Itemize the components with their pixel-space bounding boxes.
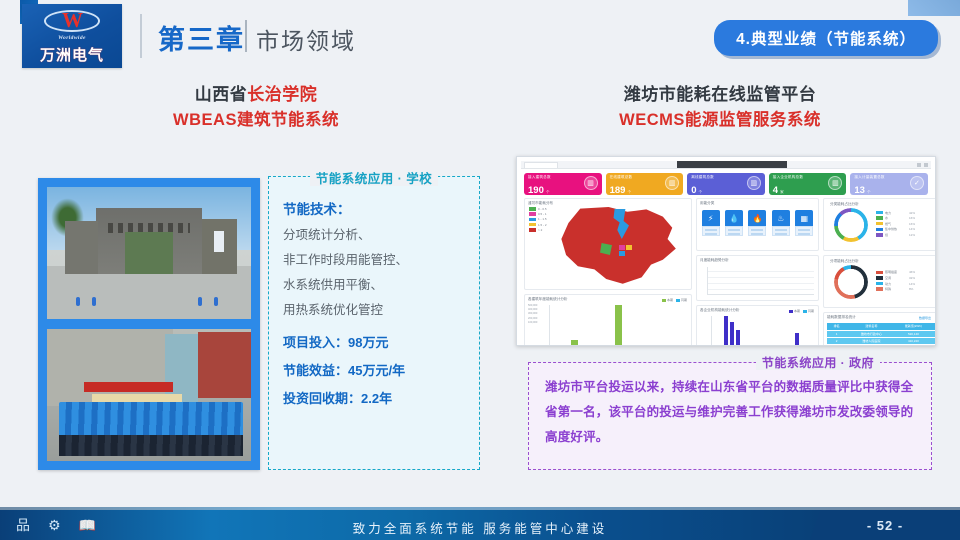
left-column-title: 山西省长治学院 WBEAS建筑节能系统 bbox=[30, 84, 482, 132]
donut-1-title: 分类能耗占比分析 bbox=[827, 200, 859, 207]
table-cell: 14% bbox=[930, 337, 936, 344]
kpi-unit: 个 bbox=[698, 190, 702, 194]
gridline bbox=[708, 277, 814, 278]
table-action-export[interactable]: 数据导出 bbox=[919, 316, 931, 320]
legend-item: 电力42% bbox=[876, 211, 915, 215]
legend-swatch bbox=[876, 287, 883, 291]
electric-icon: ⚡ bbox=[702, 210, 720, 226]
energy-icon-heat[interactable]: ♨ bbox=[772, 210, 790, 236]
legend-swatch bbox=[676, 299, 680, 302]
right-title-line2: WECMS能源监管服务系统 bbox=[490, 108, 950, 132]
legend-label: 燃气 bbox=[885, 222, 907, 226]
ranking-table-card[interactable]: 能耗数据排名统计 数据导出 按月查询 排名建筑名称能耗值(kWh)占比1潍坊市行… bbox=[823, 312, 936, 346]
table-header: 排名建筑名称能耗值(kWh)占比 bbox=[827, 323, 936, 330]
legend-item: 集中供热14% bbox=[876, 227, 915, 231]
header-divider-2 bbox=[245, 20, 247, 52]
water-drop-icon: 💧 bbox=[725, 210, 743, 226]
legend-value: 16% bbox=[909, 216, 915, 220]
bar bbox=[571, 340, 578, 346]
gridline bbox=[708, 289, 814, 290]
legend-swatch bbox=[529, 218, 536, 222]
donut-1-legend: 电力42% 水16% 燃气16% 集中供热14% 煤12% bbox=[876, 211, 915, 239]
photo2-glass-facade bbox=[165, 334, 198, 403]
map-card[interactable]: 潍坊市能耗分布 0 - 0.5 0.5 - 1 1 - 1.5 1.5 - 2 … bbox=[524, 198, 692, 290]
bar bbox=[615, 305, 622, 346]
legend-item: 照明插座46% bbox=[876, 270, 915, 274]
table-header-row: 能耗数据排名统计 数据导出 按月查询 bbox=[824, 313, 936, 320]
table-cell: 潍坊市行政中心 bbox=[846, 330, 896, 337]
legend-value: 42% bbox=[909, 211, 915, 215]
map-legend-item: 1 - 1.5 bbox=[529, 217, 547, 221]
kpi-unit: 个 bbox=[627, 190, 631, 194]
photo1-bollard bbox=[92, 297, 96, 306]
legend-label: 空调 bbox=[885, 276, 907, 280]
legend-entry: 同期 bbox=[803, 309, 814, 313]
table-action-query[interactable]: 按月查询 bbox=[935, 316, 936, 320]
legend-label: 1 - 1.5 bbox=[538, 217, 547, 221]
energy-icon-electric[interactable]: ⚡ bbox=[702, 210, 720, 236]
map-legend: 0 - 0.5 0.5 - 1 1 - 1.5 1.5 - 2 > 2 bbox=[529, 207, 547, 233]
legend-item: 煤12% bbox=[876, 233, 915, 237]
legend-swatch bbox=[876, 276, 883, 280]
logo-company-name: 万洲电气 bbox=[40, 44, 104, 65]
bar-chart-1-legend: 本期 同期 bbox=[662, 298, 687, 302]
logo-emblem-icon: W bbox=[44, 8, 100, 34]
right-info-box: 潍坊市平台投运以来，持续在山东省平台的数据质量评比中获得全省第一名，该平台的投运… bbox=[528, 362, 932, 470]
legend-label: 0.5 - 1 bbox=[538, 212, 547, 216]
bar-chart-icon: ▥ bbox=[584, 176, 598, 190]
bar-chart-1-yaxis: 500,000 400,000 300,000 200,000 100,000 bbox=[528, 304, 537, 325]
axis-tick: 100,000 bbox=[528, 321, 537, 325]
donut-2-legend: 照明插座46% 空调32% 动力14% 特殊8% bbox=[876, 270, 915, 292]
dashboard-window-buttons[interactable] bbox=[917, 163, 928, 167]
kpi-value: 4 bbox=[773, 185, 778, 196]
slide-footer: 品 ⚙ 📖 致力全面系统节能 服务能管中心建设 - 52 - bbox=[0, 510, 960, 540]
energy-icon-gas[interactable]: 🔥 bbox=[748, 210, 766, 236]
energy-type-icons: ⚡ 💧 🔥 ♨ ▦ bbox=[697, 206, 818, 236]
photo1-pylon-left bbox=[65, 221, 98, 274]
header-divider bbox=[140, 14, 142, 58]
legend-value: 8% bbox=[909, 287, 913, 291]
left-photo-frame bbox=[38, 178, 260, 470]
legend-swatch bbox=[876, 282, 883, 286]
metric-investment: 项目投入：98万元 bbox=[283, 329, 479, 357]
right-title-line1: 潍坊市能耗在线监管平台 bbox=[490, 84, 950, 106]
kpi-unit: 家 bbox=[780, 190, 784, 194]
legend-label: 1.5 - 2 bbox=[538, 223, 547, 227]
photo1-gate-opening bbox=[125, 232, 174, 274]
legend-swatch bbox=[876, 228, 883, 232]
slide-header: W Worldwide 万洲电气 第三章 市场领域 4.典型业绩（节能系统） bbox=[0, 0, 960, 72]
legend-value: 14% bbox=[909, 282, 915, 286]
kpi-card[interactable]: 在线建筑总数 189个 ▥ bbox=[606, 173, 684, 195]
legend-swatch bbox=[529, 207, 536, 211]
check-icon: ✓ bbox=[910, 176, 924, 190]
chapter-title: 第三章 bbox=[158, 18, 245, 57]
line-chart-plot bbox=[707, 267, 814, 295]
bar-chart-icon: ▥ bbox=[828, 176, 842, 190]
legend-entry: 本期 bbox=[662, 298, 673, 302]
tech-item: 分项统计分析、 bbox=[283, 223, 479, 248]
ranking-table[interactable]: 排名建筑名称能耗值(kWh)占比1潍坊市行政中心520,14018%2潍坊人民医… bbox=[827, 323, 936, 346]
icon-base bbox=[702, 226, 720, 236]
legend-value: 46% bbox=[909, 270, 915, 274]
legend-label: 同期 bbox=[808, 309, 814, 313]
donut-2-title: 分项能耗占比分析 bbox=[827, 257, 859, 264]
photo2-red-banner bbox=[84, 382, 174, 393]
legend-label: 本期 bbox=[794, 309, 800, 313]
bar-chart-icon: ▥ bbox=[747, 176, 761, 190]
photo2-red-building bbox=[198, 332, 251, 398]
table-column-header: 排名 bbox=[827, 323, 846, 330]
right-info-paragraph: 潍坊市平台投运以来，持续在山东省平台的数据质量评比中获得全省第一名，该平台的投运… bbox=[529, 363, 931, 450]
table-cell: 潍坊市第一中学 bbox=[846, 344, 896, 346]
legend-swatch bbox=[876, 211, 883, 215]
bar-chart-1-card[interactable]: 各建筑年度能耗统计分析 本期 同期 500,000 400,000 300,00… bbox=[524, 294, 692, 346]
gas-flame-icon: 🔥 bbox=[748, 210, 766, 226]
dashboard-column-middle: 用能分类 ⚡ 💧 🔥 ♨ ▦ 月度能耗趋势分析 bbox=[696, 198, 819, 346]
map-region-chip[interactable] bbox=[619, 251, 625, 256]
table-row[interactable]: 1潍坊市行政中心520,14018% bbox=[827, 330, 936, 337]
kpi-value: 189 bbox=[610, 185, 626, 196]
legend-label: 水 bbox=[885, 216, 907, 220]
table-cell: 368,900 bbox=[897, 344, 931, 346]
legend-label: 电力 bbox=[885, 211, 907, 215]
coal-icon: ▦ bbox=[795, 210, 813, 226]
left-title-highlight: 长治学院 bbox=[247, 85, 317, 104]
dashboard-browser-bar bbox=[521, 161, 931, 169]
photo2-students-dark bbox=[59, 435, 243, 456]
legend-swatch bbox=[876, 271, 883, 275]
tech-item: 非工作时段用能管控、 bbox=[283, 248, 479, 273]
left-title-line1: 山西省长治学院 bbox=[30, 84, 482, 106]
map-region-chip[interactable] bbox=[619, 245, 625, 250]
kpi-value: 190 bbox=[528, 185, 544, 196]
bar bbox=[633, 345, 640, 346]
legend-label: 动力 bbox=[885, 282, 907, 286]
legend-swatch bbox=[529, 228, 536, 232]
bar-chart-2-plot bbox=[711, 316, 815, 346]
legend-swatch bbox=[803, 310, 807, 313]
photo1-bollard bbox=[76, 297, 80, 306]
table-cell: 3 bbox=[827, 344, 846, 346]
table-row[interactable]: 2潍坊人民医院410,22014% bbox=[827, 337, 936, 344]
legend-swatch bbox=[876, 222, 883, 226]
legend-entry: 同期 bbox=[676, 298, 687, 302]
energy-icon-coal[interactable]: ▦ bbox=[795, 210, 813, 236]
legend-value: 14% bbox=[909, 227, 915, 231]
dashboard-tab[interactable] bbox=[524, 162, 558, 168]
legend-swatch bbox=[789, 310, 793, 313]
legend-entry: 本期 bbox=[789, 309, 800, 313]
table-column-header: 能耗值(kWh) bbox=[897, 323, 931, 330]
kpi-unit: 个 bbox=[546, 190, 550, 194]
icon-base bbox=[795, 226, 813, 236]
photo1-sign bbox=[214, 231, 224, 252]
axis-tick: 300,000 bbox=[528, 312, 537, 316]
map-region-chip[interactable] bbox=[626, 245, 632, 250]
table-cell: 520,140 bbox=[897, 330, 931, 337]
photo1-ground bbox=[47, 266, 251, 319]
tech-item: 水系统供用平衡、 bbox=[283, 273, 479, 298]
map-legend-item: > 2 bbox=[529, 228, 547, 232]
gridline bbox=[708, 271, 814, 272]
donut-1-ring bbox=[834, 208, 868, 242]
dashboard-url-bar[interactable] bbox=[677, 161, 787, 168]
line-chart-card[interactable]: 月度能耗趋势分析 bbox=[696, 255, 819, 301]
left-info-header: 节能系统应用 · 学校 bbox=[268, 168, 480, 188]
donut-chart-2-card[interactable]: 分项能耗占比分析 照明插座46% 空调32% 动力14% 特殊8% bbox=[823, 255, 936, 308]
icon-base bbox=[772, 226, 790, 236]
table-cell: 410,220 bbox=[897, 337, 931, 344]
legend-label: 特殊 bbox=[885, 287, 907, 291]
kpi-value: 13 bbox=[854, 185, 865, 196]
left-info-box: 节能技术： 分项统计分析、 非工作时段用能管控、 水系统供用平衡、 用热系统优化… bbox=[268, 176, 480, 470]
dashboard-kpi-row: 接入建筑总数 190个 ▥ 在线建筑总数 189个 ▥ 离线建筑总数 0个 ▥ … bbox=[521, 169, 931, 198]
company-logo: W Worldwide 万洲电气 bbox=[22, 4, 122, 68]
legend-item: 动力14% bbox=[876, 282, 915, 286]
map-legend-item: 1.5 - 2 bbox=[529, 223, 547, 227]
legend-item: 空调32% bbox=[876, 276, 915, 280]
left-title-line2: WBEAS建筑节能系统 bbox=[30, 108, 482, 132]
right-column-title: 潍坊市能耗在线监管平台 WECMS能源监管服务系统 bbox=[490, 84, 950, 132]
table-cell: 12% bbox=[930, 344, 936, 346]
minimize-icon[interactable] bbox=[917, 163, 921, 167]
metric-payback: 投资回收期：2.2年 bbox=[283, 385, 479, 413]
kpi-card[interactable]: 接入建筑总数 190个 ▥ bbox=[524, 173, 602, 195]
legend-swatch bbox=[662, 299, 666, 302]
dashboard-screenshot: 接入建筑总数 190个 ▥ 在线建筑总数 189个 ▥ 离线建筑总数 0个 ▥ … bbox=[516, 156, 936, 346]
section-badge-label: 4.典型业绩（节能系统） bbox=[736, 27, 916, 49]
bar bbox=[730, 322, 734, 346]
legend-value: 12% bbox=[909, 233, 915, 237]
kpi-card[interactable]: 离线建筑总数 0个 ▥ bbox=[687, 173, 765, 195]
energy-type-title: 用能分类 bbox=[697, 199, 818, 206]
tech-item: 用热系统优化管控 bbox=[283, 298, 479, 323]
maximize-icon[interactable] bbox=[924, 163, 928, 167]
table-cell: 1 bbox=[827, 330, 846, 337]
legend-item: 特殊8% bbox=[876, 287, 915, 291]
table-cell: 18% bbox=[930, 330, 936, 337]
legend-label: 同期 bbox=[681, 298, 687, 302]
left-info-header-label: 节能系统应用 · 学校 bbox=[310, 172, 439, 186]
table-title: 能耗数据排名统计 bbox=[827, 315, 856, 320]
bar bbox=[736, 330, 740, 346]
section-subtitle: 市场领域 bbox=[256, 22, 356, 56]
slide-root: W Worldwide 万洲电气 第三章 市场领域 4.典型业绩（节能系统） 山… bbox=[0, 0, 960, 540]
photo-student-ceremony bbox=[47, 329, 251, 461]
legend-item: 水16% bbox=[876, 216, 915, 220]
legend-value: 32% bbox=[909, 276, 915, 280]
photo1-bollard bbox=[198, 297, 202, 306]
dashboard-column-right: 分类能耗占比分析 电力42% 水16% 燃气16% 集中供热14% 煤12% 分… bbox=[823, 198, 936, 346]
legend-item: 燃气16% bbox=[876, 222, 915, 226]
energy-icon-water[interactable]: 💧 bbox=[725, 210, 743, 236]
legend-value: 16% bbox=[909, 222, 915, 226]
donut-chart-1-card[interactable]: 分类能耗占比分析 电力42% 水16% 燃气16% 集中供热14% 煤12% bbox=[823, 198, 936, 251]
map-legend-item: 0.5 - 1 bbox=[529, 212, 547, 216]
kpi-unit: 个 bbox=[867, 190, 871, 194]
metric-savings: 节能效益：45万元/年 bbox=[283, 357, 479, 385]
legend-label: 煤 bbox=[885, 233, 907, 237]
right-info-header-label: 节能系统应用 · 政府 bbox=[756, 356, 880, 370]
table-column-header: 建筑名称 bbox=[846, 323, 896, 330]
tech-label: 节能技术： bbox=[283, 197, 479, 223]
legend-swatch bbox=[529, 223, 536, 227]
map-legend-item: 0 - 0.5 bbox=[529, 207, 547, 211]
logo-subtitle: Worldwide bbox=[58, 35, 86, 41]
table-column-header: 占比 bbox=[930, 323, 936, 330]
page-number: - 52 - bbox=[810, 510, 960, 540]
table-cell: 2 bbox=[827, 337, 846, 344]
bar bbox=[724, 316, 728, 346]
bar-chart-icon: ▥ bbox=[665, 176, 679, 190]
legend-label: 照明插座 bbox=[885, 270, 907, 274]
section-badge: 4.典型业绩（节能系统） bbox=[714, 20, 938, 56]
dashboard-content-grid: 潍坊市能耗分布 0 - 0.5 0.5 - 1 1 - 1.5 1.5 - 2 … bbox=[521, 198, 931, 346]
bar-chart-2-card[interactable]: 各企业机构能耗统计分析 本期 同期 bbox=[696, 305, 819, 346]
legend-swatch bbox=[876, 233, 883, 237]
legend-swatch bbox=[529, 212, 536, 216]
legend-label: 本期 bbox=[667, 298, 673, 302]
left-title-prefix: 山西省 bbox=[195, 85, 248, 104]
gridline bbox=[708, 283, 814, 284]
dashboard-column-left: 潍坊市能耗分布 0 - 0.5 0.5 - 1 1 - 1.5 1.5 - 2 … bbox=[524, 198, 692, 346]
left-info-body: 节能技术： 分项统计分析、 非工作时段用能管控、 水系统供用平衡、 用热系统优化… bbox=[269, 177, 479, 413]
heat-icon: ♨ bbox=[772, 210, 790, 226]
legend-label: 0 - 0.5 bbox=[538, 207, 547, 211]
icon-base bbox=[748, 226, 766, 236]
table-row[interactable]: 3潍坊市第一中学368,90012% bbox=[827, 344, 936, 346]
line-chart-title: 月度能耗趋势分析 bbox=[697, 256, 818, 263]
photo1-bollard bbox=[214, 297, 218, 306]
legend-swatch bbox=[876, 216, 883, 220]
legend-label: > 2 bbox=[538, 228, 542, 232]
logo-w-letter: W bbox=[44, 8, 100, 34]
donut-2-ring bbox=[834, 265, 868, 299]
table-cell: 潍坊人民医院 bbox=[846, 337, 896, 344]
energy-type-card[interactable]: 用能分类 ⚡ 💧 🔥 ♨ ▦ bbox=[696, 198, 819, 251]
bar-chart-2-legend: 本期 同期 bbox=[789, 309, 814, 313]
bar-chart-1-plot bbox=[549, 305, 688, 346]
map-card-title: 潍坊市能耗分布 bbox=[525, 199, 691, 206]
bar bbox=[795, 333, 799, 346]
kpi-card[interactable]: 接入计量装置总数 13个 ✓ bbox=[850, 173, 928, 195]
bar bbox=[589, 345, 596, 346]
legend-label: 集中供热 bbox=[885, 227, 907, 231]
icon-base bbox=[725, 226, 743, 236]
photo-campus-gate bbox=[47, 187, 251, 319]
right-info-header: 节能系统应用 · 政府 bbox=[528, 354, 932, 372]
kpi-value: 0 bbox=[691, 185, 696, 196]
kpi-card[interactable]: 接入企业机构总数 4家 ▥ bbox=[769, 173, 847, 195]
